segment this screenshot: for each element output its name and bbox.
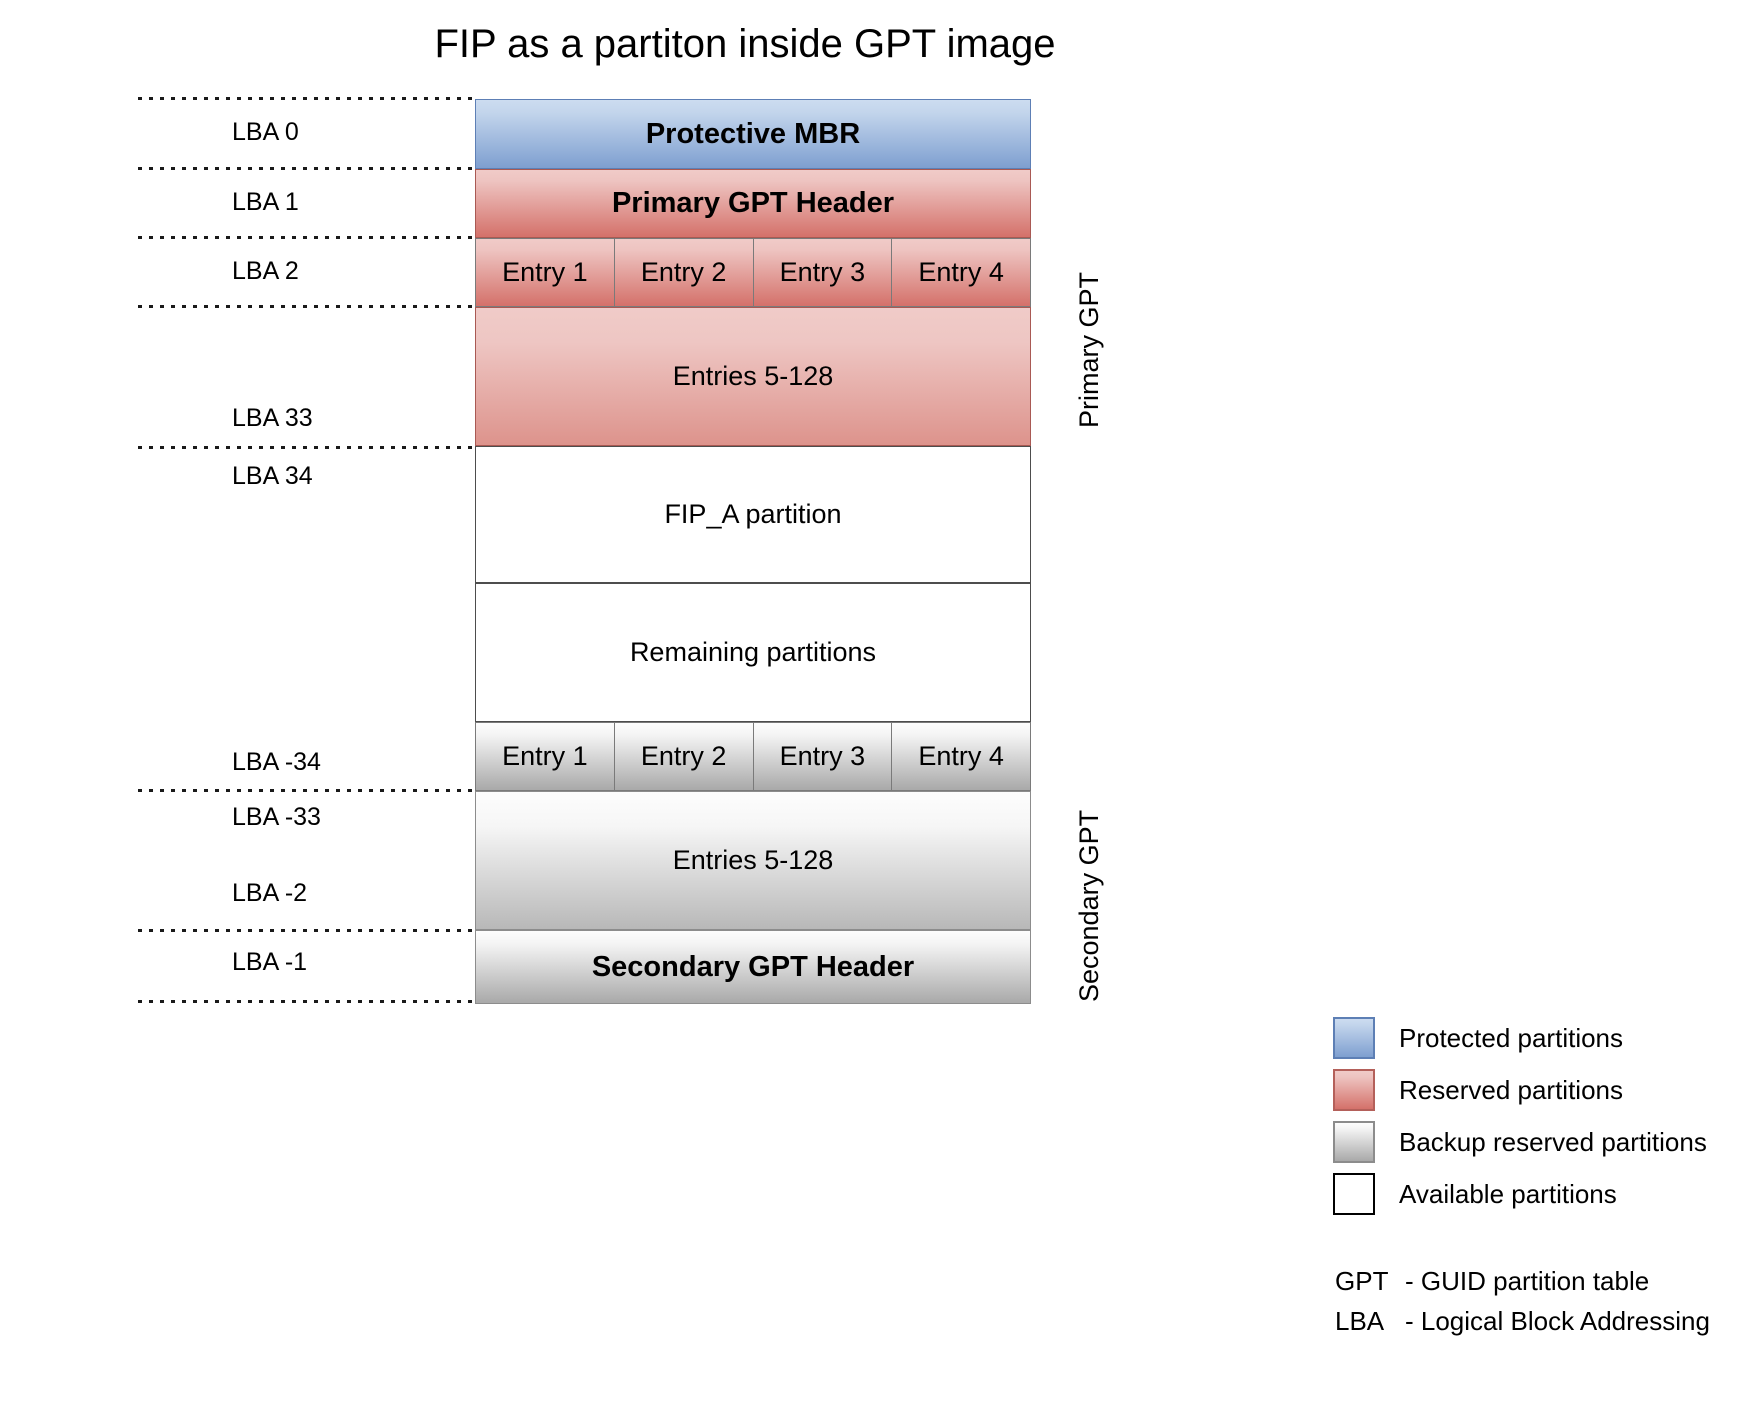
leader-line xyxy=(138,789,478,792)
abbreviation-definition: - Logical Block Addressing xyxy=(1405,1306,1710,1337)
lba-label: LBA -2 xyxy=(232,881,307,906)
secondary-entries-5-128: Entries 5-128 xyxy=(475,791,1031,930)
abbreviation-row: GPT- GUID partition table xyxy=(1335,1266,1710,1306)
legend-swatch-icon xyxy=(1333,1069,1375,1111)
lba-label: LBA -33 xyxy=(232,805,321,830)
lba-label: LBA -34 xyxy=(232,750,321,775)
secondary-gpt-entries: Entry 1Entry 2Entry 3Entry 4 xyxy=(475,722,1031,791)
fip-a-partition: FIP_A partition xyxy=(475,446,1031,583)
primary-entries-5-128: Entries 5-128 xyxy=(475,307,1031,446)
abbreviation-row: LBA- Logical Block Addressing xyxy=(1335,1306,1710,1346)
lba-label: LBA -1 xyxy=(232,950,307,975)
leader-line xyxy=(138,167,478,170)
legend-item: Backup reserved partitions xyxy=(1333,1116,1707,1168)
gpt-entry-cell: Entry 1 xyxy=(475,722,615,791)
legend-swatch-icon xyxy=(1333,1121,1375,1163)
remaining-partitions: Remaining partitions xyxy=(475,583,1031,722)
legend-item: Available partitions xyxy=(1333,1168,1707,1220)
abbreviations-block: GPT- GUID partition tableLBA- Logical Bl… xyxy=(1335,1266,1710,1346)
legend-label: Backup reserved partitions xyxy=(1399,1127,1707,1158)
gpt-entry-cell: Entry 4 xyxy=(891,722,1031,791)
leader-line xyxy=(138,97,478,100)
leader-line xyxy=(138,236,478,239)
leader-line xyxy=(138,929,478,932)
abbreviation-key: GPT xyxy=(1335,1266,1405,1297)
lba-label: LBA 1 xyxy=(232,190,299,215)
protective-mbr: Protective MBR xyxy=(475,99,1031,169)
abbreviation-definition: - GUID partition table xyxy=(1405,1266,1649,1297)
secondary-gpt-bracket: Secondary GPT xyxy=(1074,810,1105,1002)
partition-stack: Protective MBRPrimary GPT HeaderEntries … xyxy=(475,99,1031,1005)
abbreviation-key: LBA xyxy=(1335,1306,1405,1337)
gpt-entry-cell: Entry 3 xyxy=(753,722,893,791)
legend-label: Protected partitions xyxy=(1399,1023,1623,1054)
primary-gpt-header: Primary GPT Header xyxy=(475,169,1031,238)
primary-gpt-entries: Entry 1Entry 2Entry 3Entry 4 xyxy=(475,238,1031,307)
leader-line xyxy=(138,446,478,449)
page-title: FIP as a partiton inside GPT image xyxy=(0,22,1490,67)
gpt-entry-cell: Entry 2 xyxy=(614,238,754,307)
legend-swatch-icon xyxy=(1333,1017,1375,1059)
leader-line xyxy=(138,1000,478,1003)
legend-item: Reserved partitions xyxy=(1333,1064,1707,1116)
lba-label: LBA 34 xyxy=(232,464,313,489)
gpt-entry-cell: Entry 1 xyxy=(475,238,615,307)
primary-gpt-bracket: Primary GPT xyxy=(1074,272,1105,428)
legend-item: Protected partitions xyxy=(1333,1012,1707,1064)
legend-label: Reserved partitions xyxy=(1399,1075,1623,1106)
legend: Protected partitionsReserved partitionsB… xyxy=(1333,1012,1707,1220)
lba-label: LBA 2 xyxy=(232,259,299,284)
lba-label: LBA 33 xyxy=(232,406,313,431)
lba-label: LBA 0 xyxy=(232,120,299,145)
gpt-entry-cell: Entry 3 xyxy=(753,238,893,307)
legend-swatch-icon xyxy=(1333,1173,1375,1215)
gpt-entry-cell: Entry 2 xyxy=(614,722,754,791)
legend-label: Available partitions xyxy=(1399,1179,1617,1210)
gpt-entry-cell: Entry 4 xyxy=(891,238,1031,307)
secondary-gpt-header: Secondary GPT Header xyxy=(475,930,1031,1004)
leader-line xyxy=(138,305,478,308)
